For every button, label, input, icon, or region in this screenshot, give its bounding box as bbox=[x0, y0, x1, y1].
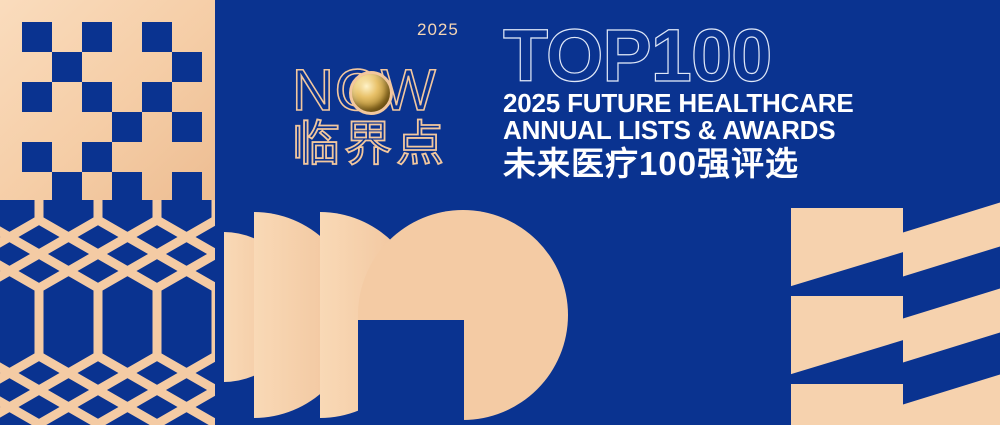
diagonal-stripes-panel-left bbox=[785, 208, 910, 425]
brand-chinese-name: 临界点 bbox=[292, 120, 492, 170]
headline-chinese-line: 未来医疗100强评选 bbox=[503, 145, 973, 183]
headline-block: TOP100 2025 FUTURE HEALTHCARE ANNUAL LIS… bbox=[503, 22, 973, 183]
banner-root: THE 2025 NOW 临界点 TOP100 2025 FUTURE HEAL… bbox=[0, 0, 1000, 425]
year-label: 2025 bbox=[417, 20, 459, 40]
brand-lockup: THE 2025 NOW 临界点 bbox=[292, 18, 492, 193]
headline-english-line-1: 2025 FUTURE HEALTHCARE bbox=[503, 90, 973, 117]
notch-square bbox=[358, 320, 464, 425]
gold-orb-icon bbox=[349, 71, 393, 115]
top100-title: TOP100 bbox=[503, 22, 973, 90]
circle-with-square-notch bbox=[338, 210, 589, 425]
wordmark-now: NOW bbox=[292, 64, 492, 118]
checkerboard-pattern-panel bbox=[0, 0, 215, 200]
headline-english-line-2: ANNUAL LISTS & AWARDS bbox=[503, 117, 973, 144]
